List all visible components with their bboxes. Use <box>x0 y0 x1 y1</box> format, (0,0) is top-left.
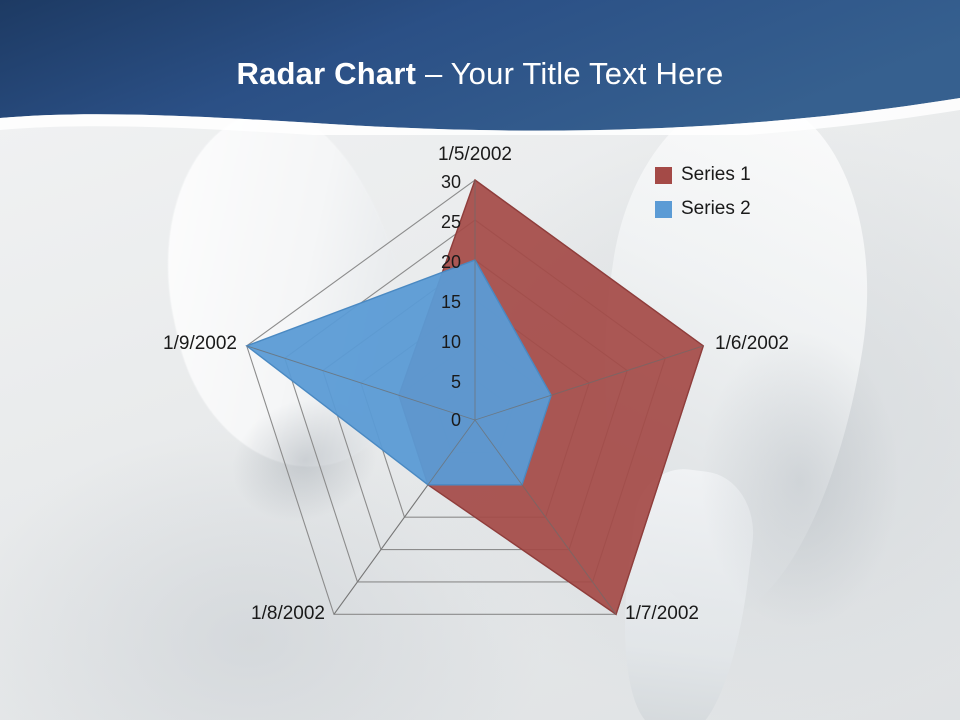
category-label-0: 1/5/2002 <box>438 144 512 165</box>
legend-swatch-series-2 <box>655 201 672 218</box>
category-label-4: 1/9/2002 <box>163 333 237 354</box>
chart-legend: Series 1 Series 2 <box>655 158 835 226</box>
tick-label-15: 15 <box>441 292 461 312</box>
tick-label-10: 10 <box>441 332 461 352</box>
page-title-rest: Your Title Text Here <box>451 56 724 91</box>
page-title: Radar Chart – Your Title Text Here <box>0 56 960 92</box>
tick-label-30: 30 <box>441 172 461 192</box>
category-label-3: 1/8/2002 <box>251 603 325 624</box>
tick-label-20: 20 <box>441 252 461 272</box>
category-label-1: 1/6/2002 <box>715 333 789 354</box>
legend-item-series-2[interactable]: Series 2 <box>655 192 835 226</box>
legend-label-series-2: Series 2 <box>681 198 751 220</box>
legend-label-series-1: Series 1 <box>681 164 751 186</box>
page-title-bold: Radar Chart <box>237 56 417 91</box>
tick-label-5: 5 <box>451 372 461 392</box>
legend-swatch-series-1 <box>655 167 672 184</box>
category-label-2: 1/7/2002 <box>625 603 699 624</box>
tick-label-0: 0 <box>451 410 461 430</box>
slide: Radar Chart – Your Title Text Here <box>0 0 960 720</box>
page-title-separator: – <box>416 56 451 91</box>
legend-item-series-1[interactable]: Series 1 <box>655 158 835 192</box>
tick-label-25: 25 <box>441 212 461 232</box>
